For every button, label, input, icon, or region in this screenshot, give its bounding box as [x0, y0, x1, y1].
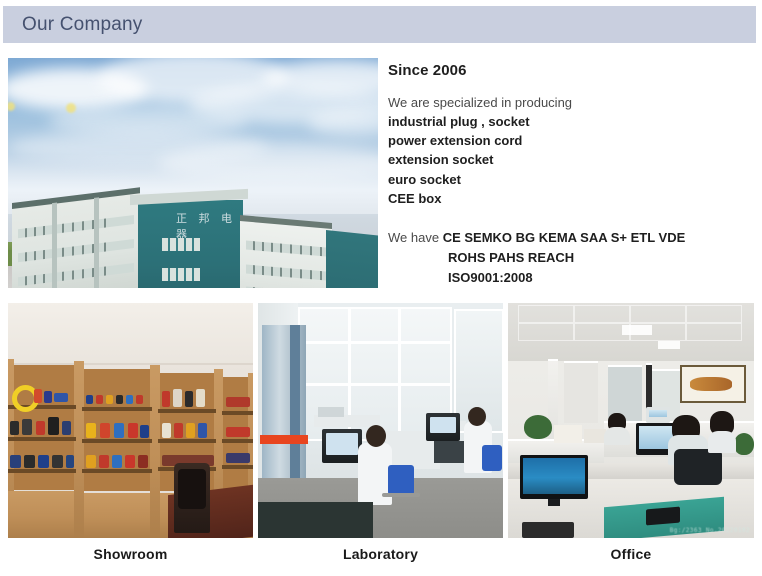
certifications-line-1: We have CE SEMKO BG KEMA SAA S+ ETL VDE — [388, 228, 760, 248]
machine-column — [290, 325, 300, 485]
product-item — [52, 455, 63, 468]
product-item — [99, 455, 109, 468]
company-profile-page: Our Company 正 邦 电 器 — [0, 0, 762, 576]
product-item — [66, 455, 74, 468]
gallery-item-showroom: Showroom — [8, 303, 253, 562]
chair-base — [382, 493, 420, 497]
building-far-wing — [326, 230, 378, 288]
about-text-block: Since 2006 We are specialized in produci… — [388, 62, 760, 288]
keyboard — [522, 522, 574, 538]
office-photo: Bg:/2363 No.20220102 — [508, 303, 754, 538]
ceiling-light — [658, 341, 680, 349]
product-item — [136, 395, 143, 404]
foreground-platform — [258, 502, 373, 538]
book-stack — [554, 425, 582, 443]
monitor-back — [646, 407, 670, 423]
window-row — [162, 238, 200, 251]
product-item — [36, 421, 45, 435]
product-item — [62, 421, 71, 435]
product-item — [173, 389, 182, 407]
window-row — [18, 263, 134, 286]
gallery-caption: Showroom — [8, 546, 253, 562]
product-item — [196, 389, 205, 407]
product-item — [116, 395, 123, 404]
cabinet-door — [8, 491, 74, 538]
shelf — [158, 409, 216, 413]
building-right-wing — [240, 220, 332, 288]
section-header: Our Company — [3, 6, 756, 43]
ceiling-tile — [518, 323, 574, 341]
list-item: extension socket — [388, 150, 760, 169]
shelf — [82, 469, 152, 473]
product-item — [138, 455, 148, 468]
product-item — [226, 453, 250, 463]
ceiling-light — [622, 325, 652, 335]
since-heading: Since 2006 — [388, 62, 760, 79]
product-item — [106, 395, 113, 404]
product-item — [54, 393, 68, 402]
book-stack — [584, 429, 606, 443]
employee — [604, 427, 630, 445]
product-item — [86, 423, 96, 438]
wall-recess — [564, 361, 598, 423]
shelf — [222, 439, 253, 443]
shelf — [222, 465, 253, 469]
product-item — [86, 455, 96, 468]
product-item — [162, 423, 171, 438]
product-item — [174, 423, 183, 438]
product-item — [100, 423, 110, 438]
ceiling-tile — [574, 305, 630, 323]
shelf — [222, 411, 253, 415]
instrument-box — [318, 407, 344, 417]
product-item — [186, 423, 195, 438]
shelf — [8, 437, 76, 441]
technician-head — [468, 407, 486, 426]
product-item — [162, 391, 170, 407]
ceiling-tile — [686, 323, 742, 341]
cabinet-frame — [74, 361, 84, 538]
window-row — [18, 215, 134, 238]
gallery-item-office: Bg:/2363 No.20220102 Office — [508, 303, 754, 562]
building-main-block: 正 邦 电 器 — [138, 200, 243, 288]
product-item — [112, 455, 122, 468]
product-item — [24, 455, 35, 468]
product-item — [226, 397, 250, 407]
chair — [388, 465, 414, 495]
window-row — [246, 241, 326, 257]
product-item — [96, 395, 103, 404]
monitor-stand — [548, 499, 560, 506]
technician-head — [366, 425, 386, 447]
product-item — [10, 455, 21, 468]
ceiling — [508, 303, 754, 361]
product-item — [125, 455, 135, 468]
window-row — [246, 265, 326, 281]
product-item — [128, 423, 138, 438]
ceiling-tile — [518, 305, 574, 323]
window-mullion — [300, 383, 450, 386]
crt-monitor — [322, 429, 362, 463]
gallery-item-laboratory: Laboratory — [258, 303, 503, 562]
product-item — [86, 395, 93, 404]
employee — [708, 431, 736, 453]
product-item — [44, 391, 52, 403]
factory-building-photo: 正 邦 电 器 — [8, 58, 378, 288]
window-row — [18, 239, 134, 262]
cabinet-door — [84, 493, 150, 538]
laboratory-photo — [258, 303, 503, 538]
list-item: CEE box — [388, 189, 760, 208]
window-row — [246, 287, 326, 288]
product-item — [38, 455, 49, 468]
window-row — [162, 268, 200, 281]
certifications-block: We have CE SEMKO BG KEMA SAA S+ ETL VDE … — [388, 228, 760, 288]
ceiling-tile — [630, 305, 686, 323]
computer-tower — [434, 441, 464, 463]
gallery-caption: Office — [508, 546, 754, 562]
product-item — [140, 425, 149, 438]
list-item: power extension cord — [388, 131, 760, 150]
product-item — [198, 423, 207, 438]
testing-machine — [262, 325, 306, 485]
chair — [174, 463, 210, 533]
ceiling-tile — [686, 305, 742, 323]
machine-red-bar — [260, 435, 308, 444]
shelf — [158, 439, 216, 443]
product-item — [10, 421, 19, 435]
shelf — [82, 439, 152, 443]
page-title: Our Company — [22, 14, 142, 36]
list-item: euro socket — [388, 170, 760, 189]
office-chair — [674, 449, 722, 485]
shelf — [82, 407, 152, 411]
photo-watermark: Bg:/2363 No.20220102 — [670, 527, 750, 534]
ceiling — [8, 303, 253, 365]
window-mullion — [300, 341, 450, 344]
chair — [482, 445, 502, 471]
aquarium-screensaver-monitor — [520, 455, 588, 499]
potted-plant — [524, 415, 552, 439]
product-item — [185, 391, 193, 407]
roof-sign-text: 正 邦 电 器 — [176, 210, 238, 226]
framed-artwork — [680, 365, 746, 403]
cabinet-frame — [150, 365, 160, 538]
facility-gallery: Showroom — [0, 303, 762, 576]
certs-prefix: We have — [388, 230, 439, 245]
window-mullion — [398, 309, 401, 439]
specialization-lead: We are specialized in producing — [388, 95, 760, 110]
certifications-line-2: ROHS PAHS REACH — [388, 248, 760, 268]
list-item: industrial plug , socket — [388, 112, 760, 131]
certifications-line-3: ISO9001:2008 — [388, 268, 760, 288]
desk-phone — [646, 507, 680, 526]
potted-plant — [734, 433, 754, 455]
lens-flare — [66, 103, 76, 113]
showroom-photo — [8, 303, 253, 538]
certs-names: CE SEMKO BG KEMA SAA S+ ETL VDE — [443, 230, 686, 245]
product-item — [22, 419, 32, 435]
product-item — [114, 423, 124, 438]
product-item — [126, 395, 133, 404]
building-left-wing — [12, 192, 140, 288]
facade-pillar — [94, 197, 99, 288]
shelf — [8, 469, 76, 473]
product-item — [48, 417, 59, 435]
facade-pillar — [52, 202, 57, 288]
product-list: industrial plug , socket power extension… — [388, 112, 760, 208]
product-item — [34, 389, 42, 403]
crt-monitor — [426, 413, 460, 441]
product-item — [226, 427, 250, 437]
gallery-caption: Laboratory — [258, 546, 503, 562]
